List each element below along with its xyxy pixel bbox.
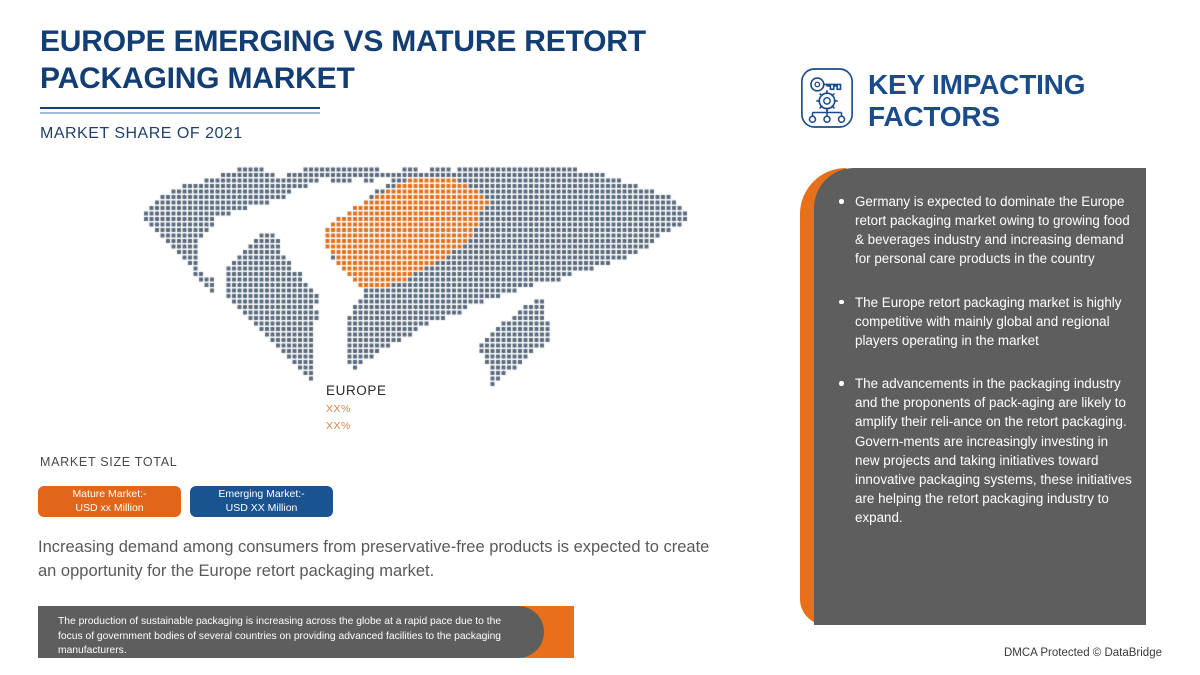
key-factors-title: KEY IMPACTING FACTORS: [868, 66, 1200, 132]
key-gear-network-icon: [798, 66, 856, 130]
list-item: The advancements in the packaging indust…: [838, 374, 1134, 527]
list-item: Germany is expected to dominate the Euro…: [838, 192, 1134, 269]
map-region-name: EUROPE: [326, 383, 387, 398]
map-pct-primary: XX%: [326, 403, 387, 415]
body-paragraph: Increasing demand among consumers from p…: [38, 536, 718, 584]
sustainability-callout: The production of sustainable packaging …: [38, 606, 574, 658]
page-title: EUROPE EMERGING VS MATURE RETORT PACKAGI…: [40, 24, 660, 98]
divider-line-top: [40, 107, 320, 109]
footer-credit: DMCA Protected © DataBridge: [1004, 647, 1162, 659]
map-pct-secondary: XX%: [326, 420, 387, 432]
infographic-canvas: EUROPE EMERGING VS MATURE RETORT PACKAGI…: [0, 0, 1200, 675]
title-divider: [40, 107, 320, 114]
world-map: EUROPE XX% XX%: [28, 158, 788, 458]
legend-emerging-line2: USD XX Million: [226, 502, 298, 515]
page-subtitle: MARKET SHARE OF 2021: [40, 125, 740, 143]
legend-emerging-line1: Emerging Market:-: [218, 488, 304, 501]
legend-item-emerging[interactable]: Emerging Market:- USD XX Million: [190, 486, 333, 517]
key-factors-list: Germany is expected to dominate the Euro…: [838, 192, 1134, 551]
legend-mature-line1: Mature Market:-: [72, 488, 146, 501]
legend-title: MARKET SIZE TOTAL: [40, 455, 177, 469]
callout-text: The production of sustainable packaging …: [58, 615, 520, 659]
legend-row: Mature Market:- USD xx Million Emerging …: [38, 486, 333, 517]
key-factors-header: KEY IMPACTING FACTORS: [798, 66, 1200, 132]
legend-mature-line2: USD xx Million: [75, 502, 143, 515]
europe-map-label: EUROPE XX% XX%: [326, 383, 387, 432]
divider-line-bottom: [40, 112, 320, 114]
key-factors-panel: Germany is expected to dominate the Euro…: [800, 168, 1146, 625]
world-map-dots: [28, 158, 788, 458]
title-block: EUROPE EMERGING VS MATURE RETORT PACKAGI…: [40, 24, 740, 143]
list-item: The Europe retort packaging market is hi…: [838, 293, 1134, 350]
legend-item-mature[interactable]: Mature Market:- USD xx Million: [38, 486, 181, 517]
